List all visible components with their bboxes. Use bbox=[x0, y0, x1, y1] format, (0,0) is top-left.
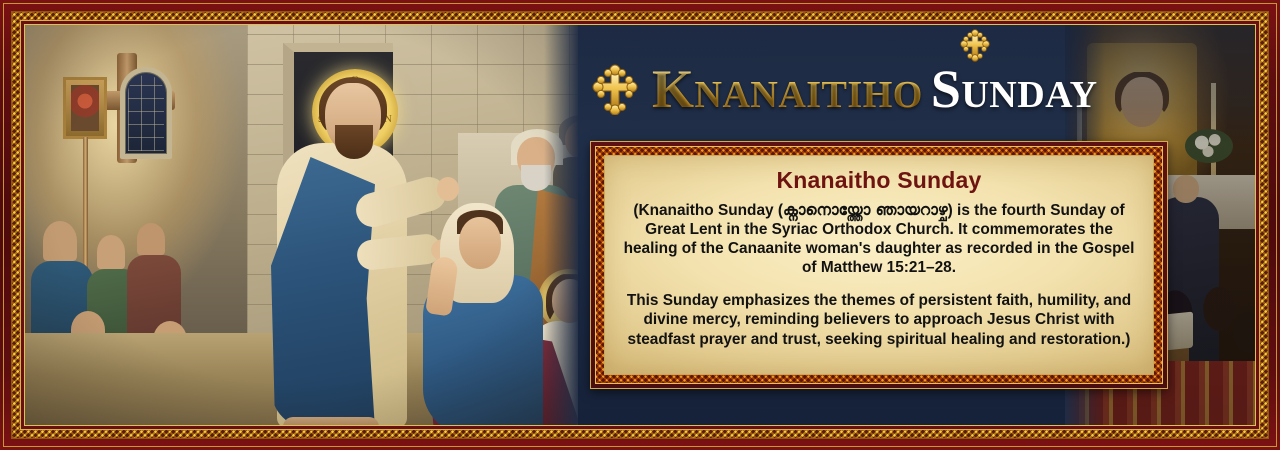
ornate-cross-icon bbox=[960, 28, 990, 62]
banner-content: Ο Ω Ν bbox=[25, 25, 1255, 425]
panel-heading: Knanaitho Sunday bbox=[622, 167, 1136, 194]
crowd-figure-head bbox=[97, 235, 125, 269]
left-artwork-scene: Ο Ω Ν bbox=[25, 25, 578, 425]
panel-paragraph-1-malayalam: ക്നാനൊയ്ത്തോ ഞായറാഴ്ച bbox=[783, 201, 948, 219]
banner-root: Ο Ω Ν bbox=[0, 0, 1280, 450]
title-word-knanaitiho: Knanaitiho bbox=[652, 59, 923, 119]
arched-window bbox=[120, 67, 172, 159]
panel-paragraph-1-prefix: (Knanaitho Sunday ( bbox=[633, 202, 783, 219]
jesus-blessing-hand bbox=[437, 177, 459, 201]
crowd-figure-head bbox=[137, 223, 165, 255]
description-panel: Knanaitho Sunday (Knanaitho Sunday (ക്നാ… bbox=[590, 141, 1168, 389]
crowd-figure-head bbox=[43, 221, 77, 261]
panel-parchment: Knanaitho Sunday (Knanaitho Sunday (ക്നാ… bbox=[604, 155, 1154, 375]
banner-title-row: KnanaitihoSunday bbox=[578, 43, 1255, 135]
panel-paragraph-2: This Sunday emphasizes the themes of per… bbox=[622, 291, 1136, 348]
page-title: KnanaitihoSunday bbox=[652, 62, 1098, 116]
banner-inner-area: Ο Ω Ν bbox=[25, 25, 1255, 425]
panel-paragraph-1: (Knanaitho Sunday (ക്നാനൊയ്ത്തോ ഞായറാഴ്ച… bbox=[622, 201, 1136, 277]
artwork-right-fade bbox=[544, 25, 578, 425]
right-content-area: KnanaitihoSunday bbox=[578, 25, 1255, 425]
jesus-beard bbox=[335, 125, 373, 159]
canaanite-woman-face bbox=[459, 217, 501, 269]
jesus-sandaled-feet bbox=[283, 417, 379, 425]
title-word-sunday: Sunday bbox=[931, 59, 1098, 119]
panel-filigree-border: Knanaitho Sunday (Knanaitho Sunday (ക്നാ… bbox=[595, 146, 1163, 384]
icon-banner-image bbox=[63, 77, 107, 139]
ornate-cross-icon bbox=[592, 63, 638, 115]
